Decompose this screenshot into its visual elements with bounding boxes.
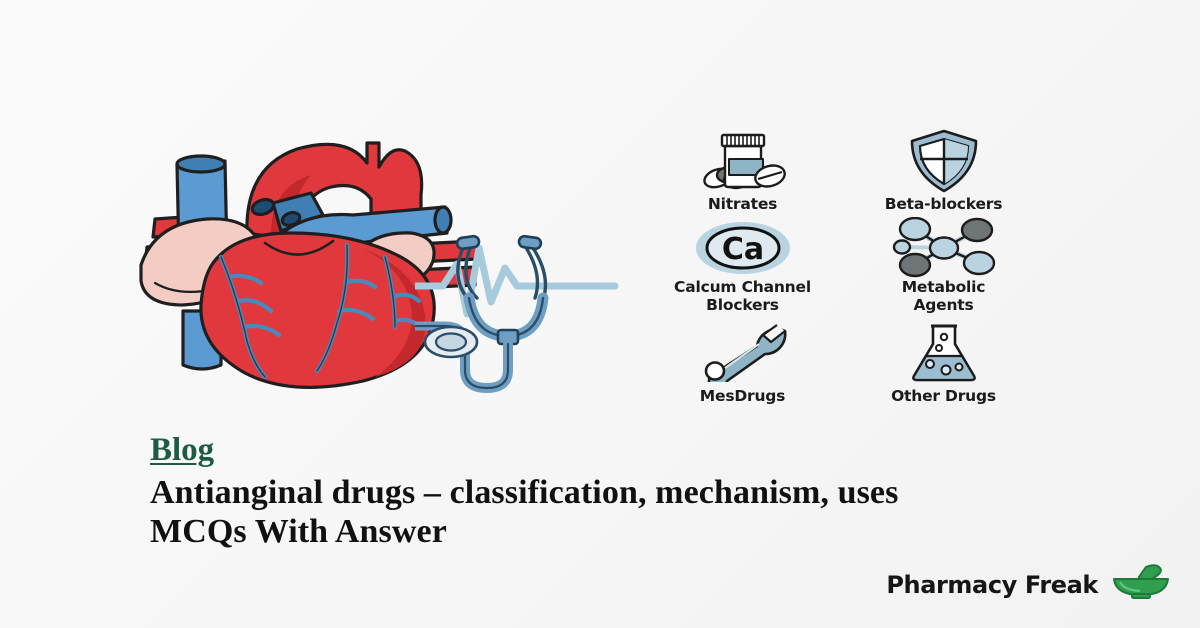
icon-label-other-drugs: Other Drugs (891, 388, 996, 405)
mortar-and-pestle-icon (1110, 563, 1172, 606)
icon-cell-nitrates: Nitrates (648, 128, 837, 213)
wrench-icon (695, 320, 791, 386)
icon-label-nitrates: Nitrates (708, 196, 777, 213)
page-title-line-1: Antianginal drugs – classification, mech… (150, 474, 898, 511)
icon-cell-calcium-channel-blockers: Ca Calcum ChannelBlockers (648, 219, 837, 314)
icon-label-calcium-channel-blockers: Calcum ChannelBlockers (674, 279, 811, 314)
ecg-waveform (415, 248, 615, 314)
page-title-line-2: MCQs With Answer (150, 512, 1200, 551)
post-text-block: Blog Antianginal drugs – classification,… (150, 434, 1200, 551)
page-title: Antianginal drugs – classification, mech… (150, 473, 1200, 551)
poster-canvas: Nitrates Beta-blockers (0, 0, 1200, 628)
blog-category-link[interactable]: Blog (150, 434, 214, 467)
icon-label-mesdrugs: MesDrugs (700, 388, 785, 405)
brand-footer: Pharmacy Freak (886, 563, 1172, 606)
icon-cell-beta-blockers: Beta-blockers (849, 128, 1038, 213)
molecule-icon (889, 219, 999, 277)
calcium-ca-icon: Ca (694, 219, 792, 277)
icon-cell-mesdrugs: MesDrugs (648, 320, 837, 405)
icon-label-metabolic-agents: MetabolicAgents (902, 279, 986, 314)
icon-cell-other-drugs: Other Drugs (849, 320, 1038, 405)
stethoscope-ecg-illustration (415, 218, 635, 393)
drug-class-icon-grid: Nitrates Beta-blockers (648, 128, 1038, 405)
icon-cell-metabolic-agents: MetabolicAgents (849, 219, 1038, 314)
svg-text:Ca: Ca (721, 232, 763, 267)
flask-icon (906, 320, 982, 386)
pill-bottle-icon (698, 128, 788, 194)
brand-name: Pharmacy Freak (886, 571, 1098, 599)
icon-label-beta-blockers: Beta-blockers (885, 196, 1003, 213)
shield-icon (906, 128, 982, 194)
